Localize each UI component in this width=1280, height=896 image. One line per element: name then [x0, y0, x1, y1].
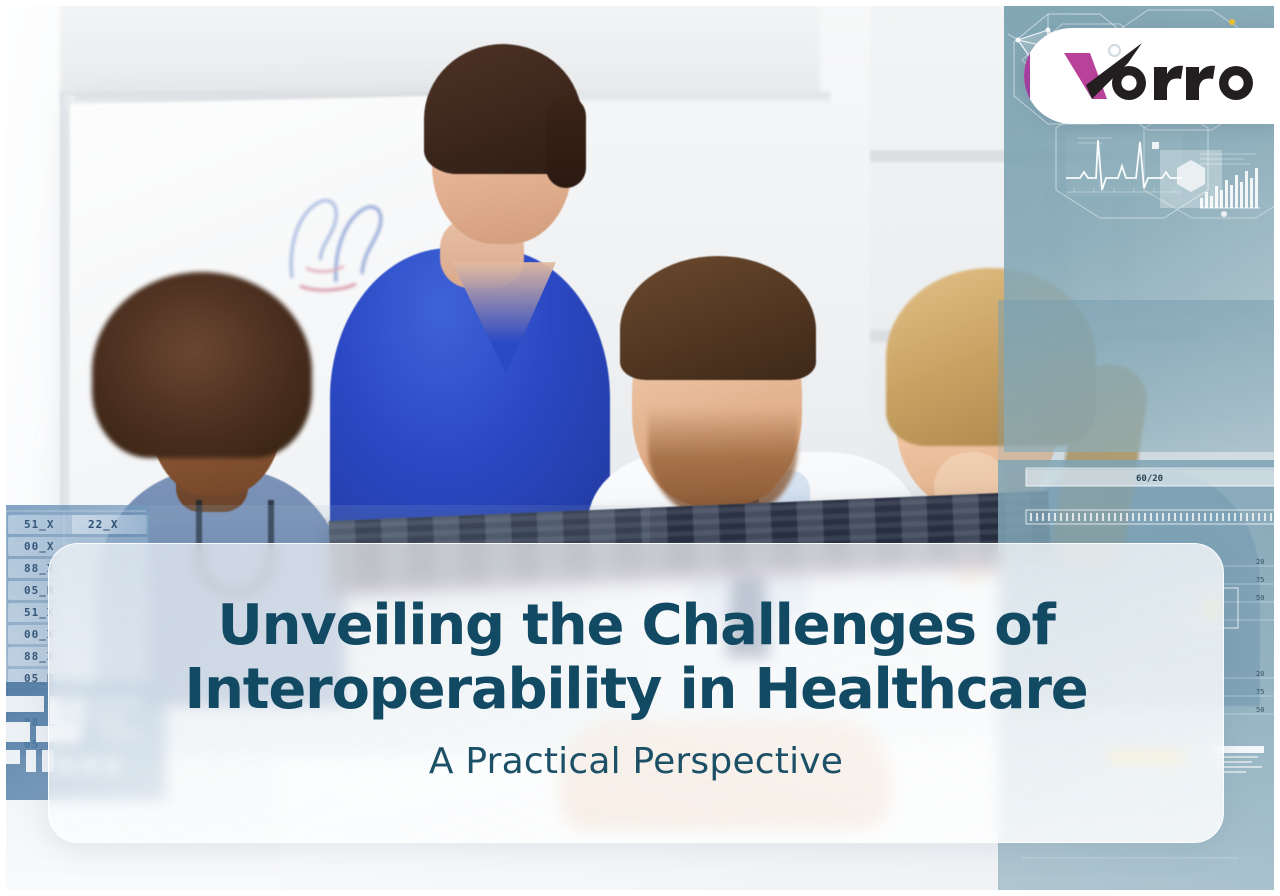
- person-left-hair: [92, 272, 312, 458]
- page-title-line-1: Unveiling the Challenges of: [217, 594, 1054, 658]
- binder: [1110, 178, 1136, 320]
- binder: [1144, 178, 1170, 320]
- vorro-wordmark-svg: [1058, 41, 1258, 111]
- binder: [1140, 356, 1168, 486]
- page-subtitle: A Practical Perspective: [429, 741, 843, 782]
- hero-banner: 180 pts 51_X 00_X 88_X 05_R 5: [0, 0, 1280, 896]
- person-standing-nurse-hair-side: [546, 96, 586, 188]
- page-title-line-2: Interoperability in Healthcare: [184, 658, 1087, 722]
- shelf-plank: [870, 150, 1200, 162]
- person-right-hair: [886, 268, 1096, 446]
- logo-pin-dot: [1110, 46, 1119, 55]
- vorro-logo[interactable]: [1024, 28, 1280, 124]
- binder: [1078, 182, 1102, 320]
- title-card: Unveiling the Challenges of Interoperabi…: [48, 543, 1224, 843]
- logo-wordmark: [1058, 41, 1258, 111]
